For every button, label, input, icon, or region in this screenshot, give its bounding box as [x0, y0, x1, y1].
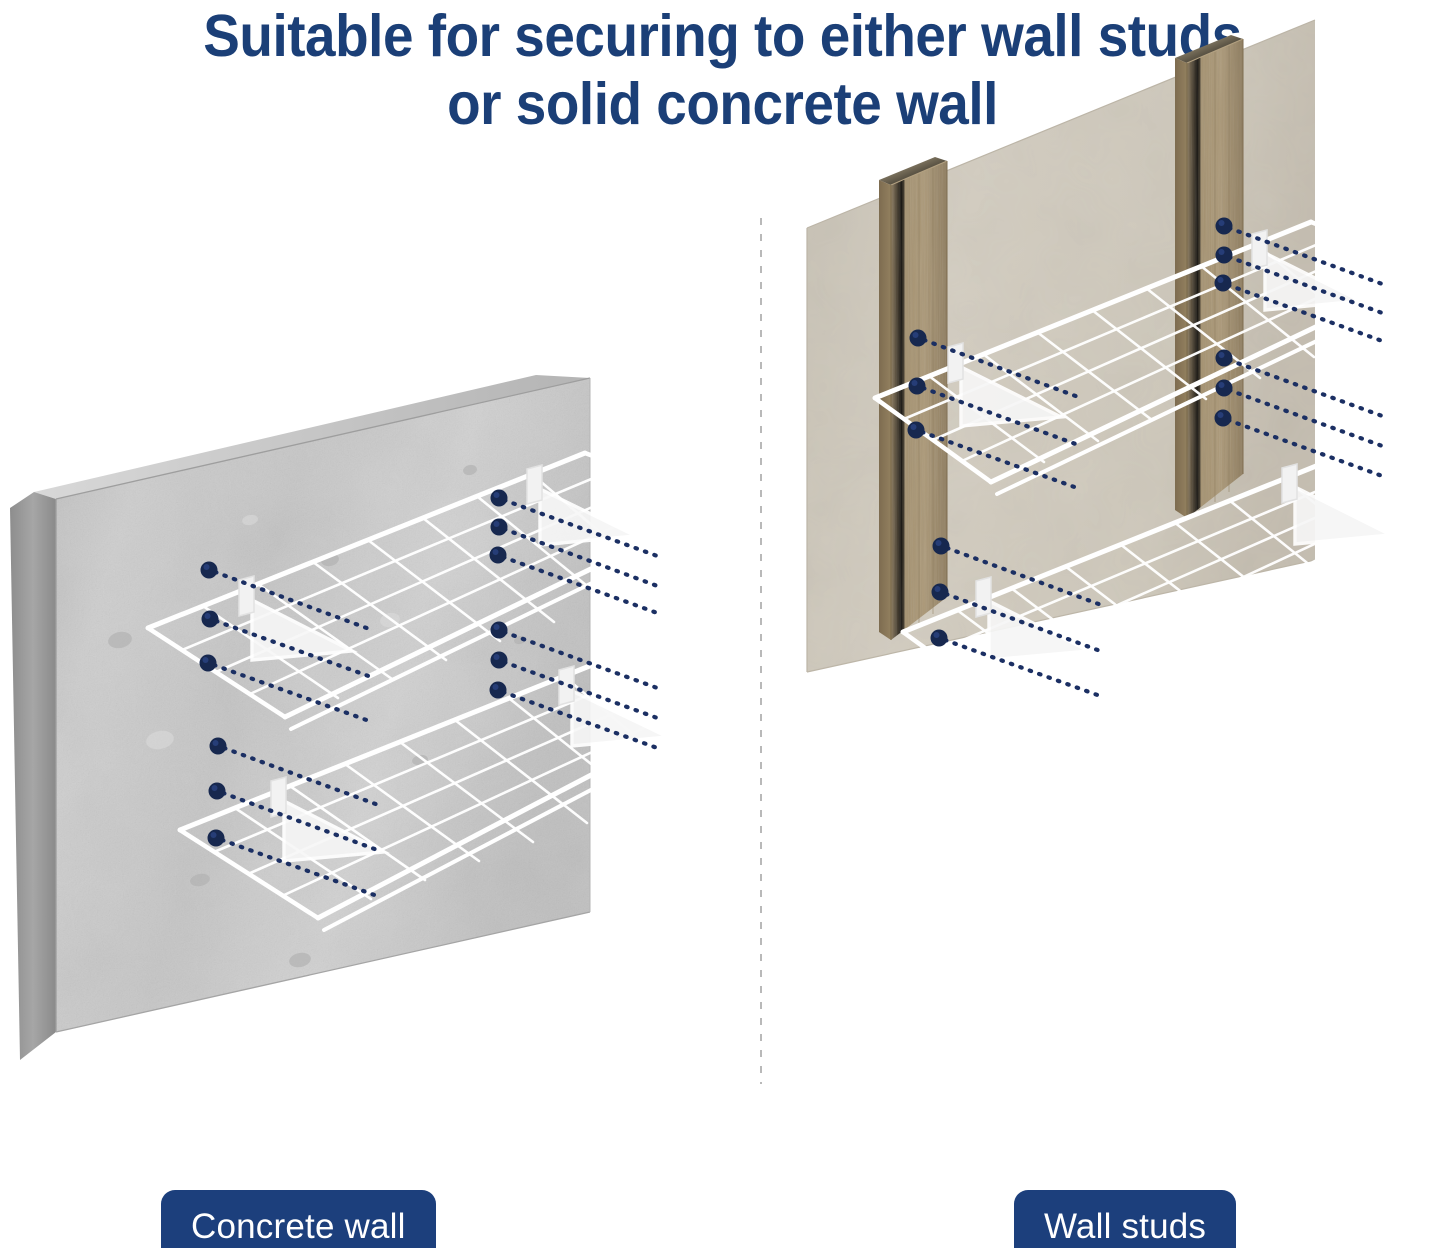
wall-studs-illustration [795, 0, 1445, 1050]
concrete-slab [10, 375, 590, 1060]
wall-stud-right [1175, 35, 1243, 518]
panel-divider [760, 218, 762, 1084]
infographic-page: Suitable for securing to either wall stu… [0, 0, 1445, 1248]
badge-wall-studs: Wall studs [1014, 1190, 1236, 1248]
wall-stud-left [879, 157, 947, 640]
concrete-wall-illustration [0, 0, 760, 1120]
badge-concrete-wall: Concrete wall [161, 1190, 436, 1248]
